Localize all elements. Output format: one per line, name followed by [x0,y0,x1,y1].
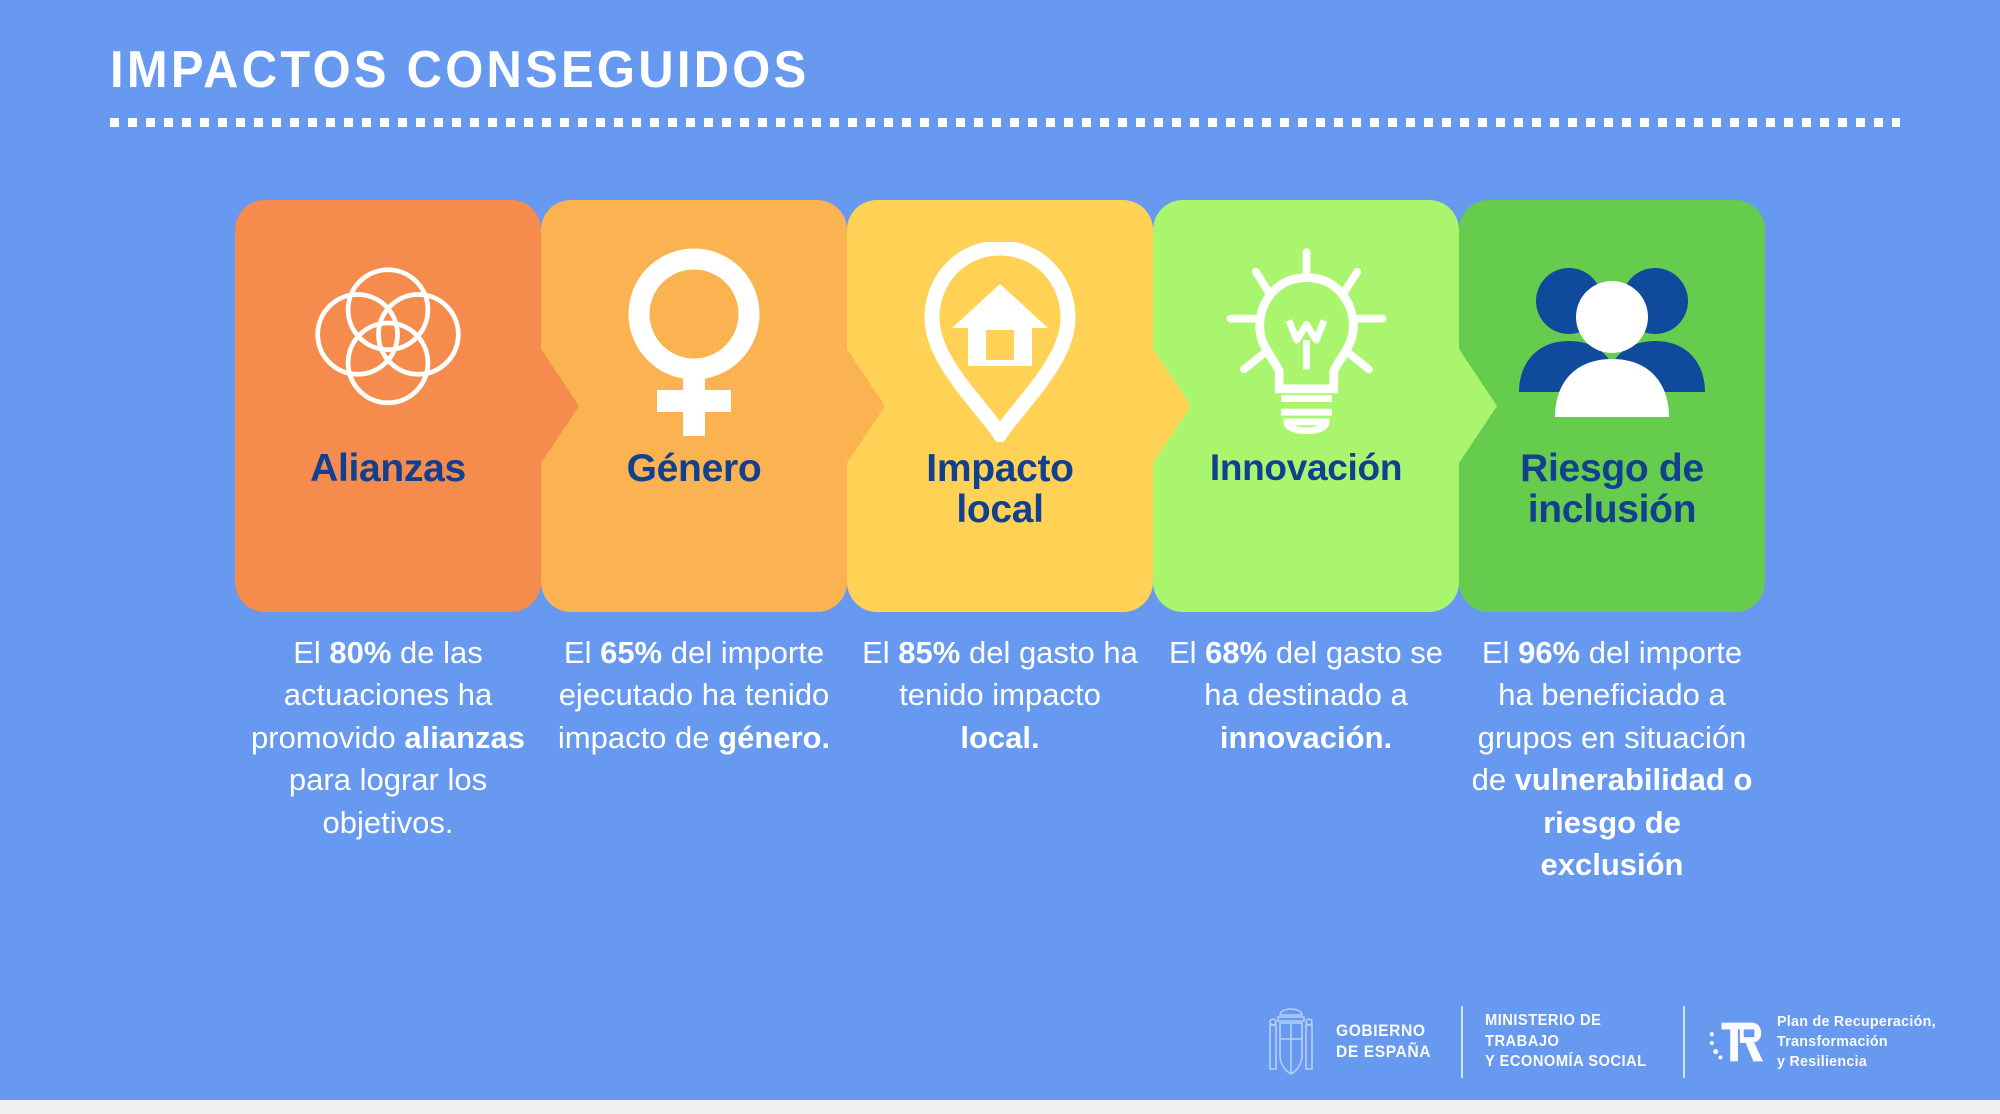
caption-innovacion: El 68% del gasto se ha destinado a innov… [1153,632,1459,759]
captions-row: El 80% de las actuaciones ha promovido a… [235,632,1765,887]
caption-riesgo-inclusion: El 96% del importe ha beneficiado a grup… [1459,632,1765,887]
caption-emphasis: vulnerabilidad o riesgo de exclusión [1515,762,1753,882]
prtr-line3: y Resiliencia [1777,1052,1936,1072]
impact-card-riesgo-inclusion[interactable]: Riesgo de inclusión [1459,200,1765,612]
impact-cards-row: Alianzas Género [235,200,1765,612]
lightbulb-icon [1209,242,1404,442]
group-of-people-icon [1507,259,1717,424]
icon-slot [541,234,847,449]
caption-emphasis: 96% [1518,635,1580,670]
overlapping-circles-icon [293,247,483,437]
caption-text: El [1482,635,1518,670]
caption-genero: El 65% del importe ejecutado ha tenido i… [541,632,847,759]
title-dotted-divider [110,118,1900,127]
gobierno-line1: GOBIERNO [1336,1021,1431,1042]
card-wrap-impacto-local: Impacto local [847,200,1153,612]
card-label-innovacion: Innovación [1202,449,1410,487]
caption-text: El [862,635,898,670]
caption-emphasis: 80% [329,635,391,670]
prtr-text: Plan de Recuperación, Transformación y R… [1777,1012,1936,1071]
card-label-line2: inclusión [1520,490,1704,531]
ministerio-line1: MINISTERIO DE [1485,1011,1647,1032]
prtr-logo: Plan de Recuperación, Transformación y R… [1707,1012,1944,1071]
icon-slot [1459,234,1765,449]
footer-divider-2 [1683,1006,1685,1078]
bottom-strip [0,1100,2000,1114]
prtr-line2: Transformación [1777,1032,1936,1052]
map-pin-house-icon [918,242,1083,442]
caption-emphasis: innovación. [1220,720,1392,755]
slide-canvas: IMPACTOS CONSEGUIDOS Alianzas [0,0,2000,1100]
card-label-line1: Riesgo de [1520,449,1704,490]
impact-card-innovacion[interactable]: Innovación [1153,200,1459,612]
card-arrow-4 [1457,346,1497,466]
prtr-tr-logo-icon [1707,1013,1765,1071]
caption-emphasis: 85% [898,635,960,670]
female-gender-symbol-icon [607,242,782,442]
caption-emphasis: local. [960,720,1039,755]
ministerio-line3: Y ECONOMÍA SOCIAL [1485,1052,1647,1073]
icon-slot [847,234,1153,449]
caption-text: El [1169,635,1205,670]
icon-slot [1153,234,1459,449]
card-arrow-2 [845,346,885,466]
impact-card-impacto-local[interactable]: Impacto local [847,200,1153,612]
caption-text: para lograr los objetivos. [289,762,487,839]
card-label-genero: Género [619,449,770,490]
prtr-line1: Plan de Recuperación, [1777,1012,1936,1032]
caption-emphasis: 65% [600,635,662,670]
caption-text: El [564,635,600,670]
gobierno-text: GOBIERNO DE ESPAÑA [1336,1021,1431,1062]
card-label-impacto-local: Impacto local [918,449,1081,530]
title-block: IMPACTOS CONSEGUIDOS [110,44,1910,127]
caption-text: El [293,635,329,670]
ministerio-text: MINISTERIO DE TRABAJO Y ECONOMÍA SOCIAL [1485,1011,1647,1073]
icon-slot [235,234,541,449]
card-label-line1: Impacto [926,449,1073,490]
caption-alianzas: El 80% de las actuaciones ha promovido a… [235,632,541,844]
card-wrap-innovacion: Innovación [1153,200,1459,612]
card-label-line2: local [926,490,1073,531]
footer-logos: GOBIERNO DE ESPAÑA MINISTERIO DE TRABAJO… [1260,1000,1944,1084]
page-title: IMPACTOS CONSEGUIDOS [110,44,1802,96]
card-label-alianzas: Alianzas [302,449,474,490]
card-arrow-3 [1151,346,1191,466]
caption-emphasis: 68% [1205,635,1267,670]
spain-coat-of-arms-icon [1260,1005,1322,1079]
gobierno-de-espana-logo: GOBIERNO DE ESPAÑA [1260,1005,1439,1079]
card-arrow-1 [539,346,579,466]
footer-divider-1 [1461,1006,1463,1078]
card-label-riesgo-inclusion: Riesgo de inclusión [1512,449,1712,530]
card-wrap-genero: Género [541,200,847,612]
impact-card-genero[interactable]: Género [541,200,847,612]
caption-impacto-local: El 85% del gasto ha tenido impacto local… [847,632,1153,759]
caption-emphasis: género. [718,720,830,755]
gobierno-line2: DE ESPAÑA [1336,1042,1431,1063]
card-wrap-riesgo-inclusion: Riesgo de inclusión [1459,200,1765,612]
ministerio-line2: TRABAJO [1485,1032,1647,1053]
impact-card-alianzas[interactable]: Alianzas [235,200,541,612]
card-wrap-alianzas: Alianzas [235,200,541,612]
caption-emphasis: alianzas [404,720,525,755]
